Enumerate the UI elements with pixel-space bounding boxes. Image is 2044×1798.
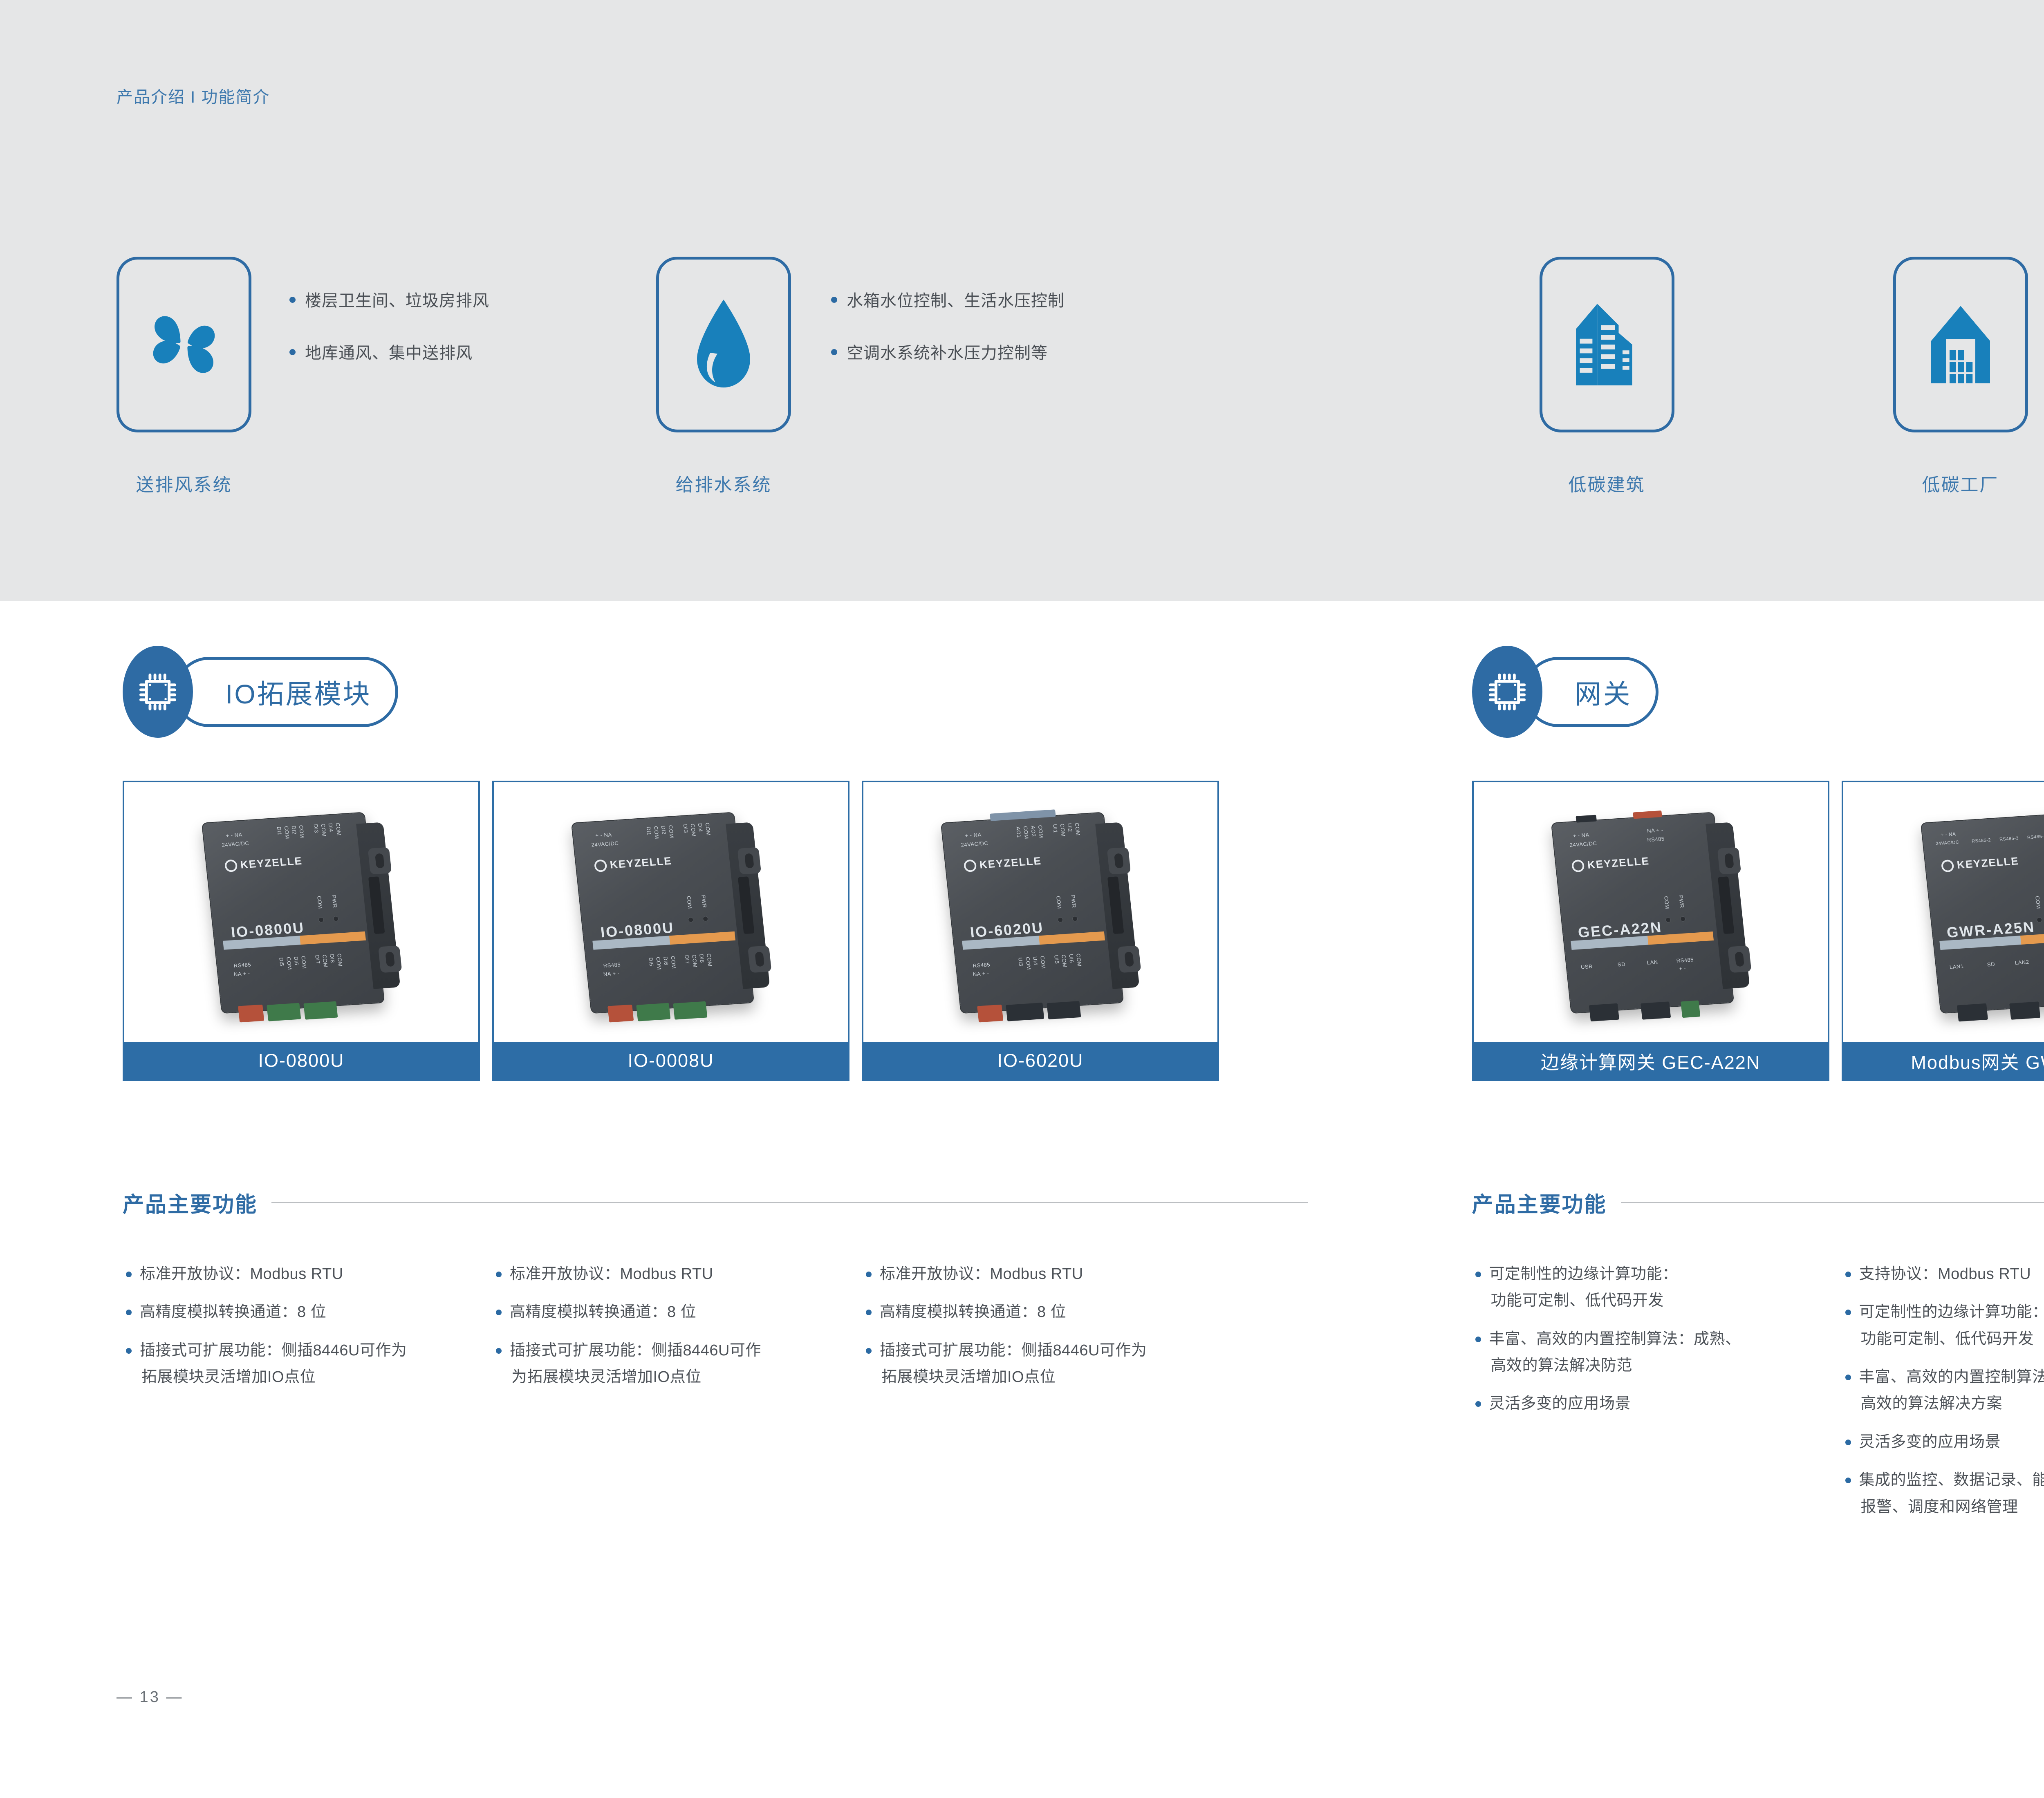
terminal-label: LAN bbox=[1647, 959, 1658, 966]
led-label: PWR bbox=[700, 895, 708, 908]
terminal-label: DI6 bbox=[293, 956, 300, 965]
terminal-label: UI1 bbox=[1052, 824, 1059, 833]
keyzelle-logo-icon bbox=[1941, 859, 1954, 872]
terminal-label: DI5 bbox=[278, 957, 285, 966]
terminal-label: COM bbox=[336, 953, 343, 967]
list-item: 插接式可扩展功能：侧插8446U可作为 拓展模块灵活增加IO点位 bbox=[123, 1337, 493, 1391]
device-illustration: + - NA 24VAC/DC AO1 COM AO2 COM UI1 COM … bbox=[941, 811, 1140, 1014]
scenario-low-carbon-building: 低碳建筑 bbox=[1540, 257, 1674, 496]
feature-column: 标准开放协议：Modbus RTU 高精度模拟转换通道：8 位 插接式可扩展功能… bbox=[863, 1261, 1233, 1402]
keyzelle-logo-icon bbox=[224, 859, 238, 872]
device-illustration: + - NA 24VAC/DC RS485-2 RS485-3 RS485-4 … bbox=[1920, 811, 2044, 1014]
office-building-icon bbox=[1568, 293, 1646, 396]
section-title: 网关 bbox=[1575, 672, 1632, 712]
scenario-group-right: 低碳建筑 低碳工厂 bbox=[1317, 257, 2044, 551]
list-item: 支持协议：Modbus RTU bbox=[1842, 1261, 2044, 1287]
list-item: 空调水系统补水压力控制等 bbox=[828, 342, 1065, 365]
device-illustration: + - NA 24VAC/DC DI1 COM DI2 COM DI3 COM … bbox=[571, 811, 771, 1014]
scenario-factory-caption: 低碳工厂 bbox=[1893, 470, 2028, 496]
terminal-label: DI7 bbox=[684, 955, 690, 964]
feature-column: 标准开放协议：Modbus RTU 高精度模拟转换通道：8 位 插接式可扩展功能… bbox=[493, 1261, 863, 1402]
terminal-label: RS485-2 bbox=[1971, 837, 1991, 844]
terminal-label: RS485 bbox=[1676, 956, 1694, 964]
list-item: 可定制性的边缘计算功能： 功能可定制、低代码开发 bbox=[1472, 1261, 1842, 1314]
terminal-label: 24VAC/DC bbox=[1569, 840, 1597, 848]
device-brand: KEYZELLE bbox=[1941, 855, 2019, 872]
terminal-label: COM bbox=[1074, 822, 1081, 836]
terminal-label: RS485-4 bbox=[2027, 834, 2044, 840]
device-illustration: + - NA 24VAC/DC NA + - RS485 KEYZELLE GE… bbox=[1551, 811, 1750, 1014]
terminal-label: RS485 bbox=[1647, 835, 1665, 843]
terminal-label: + - NA bbox=[595, 831, 612, 839]
product-card[interactable]: + - NA 24VAC/DC DI1 COM DI2 COM DI3 COM … bbox=[492, 781, 849, 1081]
terminal-label: AO1 bbox=[1015, 826, 1022, 837]
terminal-label: COM bbox=[321, 954, 329, 967]
terminal-label: SD bbox=[1987, 961, 1995, 967]
terminal-label: COM bbox=[1059, 823, 1067, 837]
terminal-label: COM bbox=[1039, 956, 1047, 969]
terminal-label: COM bbox=[283, 826, 291, 839]
product-photo: + - NA 24VAC/DC AO1 COM AO2 COM UI1 COM … bbox=[863, 782, 1217, 1042]
scenario-fan-bullets: 楼层卫生间、垃圾房排风 地库通风、集中送排风 bbox=[286, 289, 489, 394]
feature-columns-right: 可定制性的边缘计算功能： 功能可定制、低代码开发 丰富、高效的内置控制算法：成熟… bbox=[1472, 1261, 2044, 1532]
keyzelle-logo-icon bbox=[964, 859, 977, 872]
terminal-label: DI4 bbox=[327, 823, 334, 832]
product-card[interactable]: + - NA 24VAC/DC AO1 COM AO2 COM UI1 COM … bbox=[862, 781, 1219, 1081]
terminal-label: + - NA bbox=[965, 831, 982, 839]
list-item: 高精度模拟转换通道：8 位 bbox=[123, 1299, 493, 1326]
chip-icon bbox=[123, 646, 193, 738]
terminal-label: DI3 bbox=[682, 824, 689, 833]
led-label: COM bbox=[1055, 896, 1062, 909]
terminal-label: UI3 bbox=[1017, 957, 1024, 966]
terminal-label: COM bbox=[300, 956, 307, 969]
terminal-label: NA + - bbox=[603, 970, 620, 977]
water-drop-icon bbox=[685, 293, 762, 396]
terminal-label: 24VAC/DC bbox=[222, 840, 249, 848]
list-item: 标准开放协议：Modbus RTU bbox=[863, 1261, 1233, 1287]
running-head-left: 产品介绍 I 功能简介 bbox=[117, 84, 270, 107]
list-item: 水箱水位控制、生活水压控制 bbox=[828, 289, 1065, 312]
terminal-label: + - NA bbox=[1940, 831, 1956, 837]
scenario-fan-frame bbox=[117, 257, 251, 432]
features-heading-left: 产品主要功能 bbox=[123, 1187, 1308, 1218]
scenario-group-left: 送排风系统 楼层卫生间、垃圾房排风 地库通风、集中送排风 给排水系统 水箱水位控… bbox=[0, 257, 1317, 551]
terminal-label: DI7 bbox=[314, 955, 321, 964]
brochure-spread: 产品介绍 I 功能简介 送排风系统 bbox=[0, 0, 2044, 1798]
section-badge-io-modules-pill: IO拓展模块 bbox=[174, 657, 398, 727]
product-card-label: Modbus网关 GWR-A25N bbox=[1843, 1042, 2044, 1079]
terminal-label: COM bbox=[668, 825, 675, 838]
list-item: 楼层卫生间、垃圾房排风 bbox=[286, 289, 489, 312]
terminal-label: COM bbox=[653, 826, 660, 839]
scenario-low-carbon-factory: 低碳工厂 bbox=[1893, 257, 2028, 496]
terminal-label: COM bbox=[285, 956, 293, 970]
scenario-fan-caption: 送排风系统 bbox=[117, 470, 251, 496]
device-brand: KEYZELLE bbox=[1571, 855, 1650, 872]
terminal-label: RS485 bbox=[603, 961, 621, 969]
product-photo: + - NA 24VAC/DC NA + - RS485 KEYZELLE GE… bbox=[1474, 782, 1828, 1042]
scenario-water: 给排水系统 bbox=[656, 257, 791, 496]
led-label: COM bbox=[686, 896, 693, 909]
scenario-building-caption: 低碳建筑 bbox=[1540, 470, 1674, 496]
feature-columns-left: 标准开放协议：Modbus RTU 高精度模拟转换通道：8 位 插接式可扩展功能… bbox=[123, 1261, 1316, 1402]
right-page: 产品介绍 I 功能简介 bbox=[1317, 0, 2044, 1798]
list-item: 插接式可扩展功能：侧插8446U可作 为拓展模块灵活增加IO点位 bbox=[493, 1337, 863, 1391]
terminal-label: SD bbox=[1617, 961, 1626, 967]
terminal-label: + - NA bbox=[1572, 831, 1589, 839]
product-photo: + - NA 24VAC/DC DI1 COM DI2 COM DI3 COM … bbox=[494, 782, 848, 1042]
feature-column: 支持协议：Modbus RTU 可定制性的边缘计算功能： 功能可定制、低代码开发… bbox=[1842, 1261, 2044, 1532]
keyzelle-logo-icon bbox=[1571, 859, 1585, 872]
terminal-label: COM bbox=[1024, 956, 1032, 970]
terminal-label: COM bbox=[298, 825, 305, 838]
chip-icon bbox=[1472, 646, 1542, 738]
terminal-label: DI2 bbox=[291, 825, 298, 835]
product-card-row-gateway: + - NA 24VAC/DC NA + - RS485 KEYZELLE GE… bbox=[1472, 781, 2044, 1081]
list-item: 灵活多变的应用场景 bbox=[1472, 1390, 1842, 1417]
terminal-label: COM bbox=[704, 822, 712, 836]
terminal-label: COM bbox=[335, 822, 342, 836]
terminal-label: 24VAC/DC bbox=[1935, 840, 1959, 846]
list-item: 插接式可扩展功能：侧插8446U可作为 拓展模块灵活增加IO点位 bbox=[863, 1337, 1233, 1391]
product-photo: + - NA 24VAC/DC DI1 COM DI2 COM DI3 COM … bbox=[124, 782, 478, 1042]
list-item: 高精度模拟转换通道：8 位 bbox=[863, 1299, 1233, 1326]
list-item: 丰富、高效的内置控制算法：成熟、 高效的算法解决防范 bbox=[1472, 1326, 1842, 1379]
divider bbox=[1621, 1202, 2044, 1203]
terminal-label: COM bbox=[1022, 826, 1030, 839]
terminal-label: DI8 bbox=[329, 954, 336, 963]
terminal-label: + - bbox=[1679, 965, 1686, 972]
terminal-label: NA + - bbox=[973, 970, 989, 977]
scenario-water-caption: 给排水系统 bbox=[656, 470, 791, 496]
terminal-label: DI8 bbox=[698, 954, 705, 963]
led-label: COM bbox=[1663, 896, 1670, 909]
feature-column: 可定制性的边缘计算功能： 功能可定制、低代码开发 丰富、高效的内置控制算法：成熟… bbox=[1472, 1261, 1842, 1532]
list-item: 集成的监控、数据记录、能耗计量、 报警、调度和网络管理 bbox=[1842, 1467, 2044, 1520]
led-label: PWR bbox=[1070, 895, 1077, 908]
product-card-label: IO-0008U bbox=[494, 1042, 848, 1079]
section-badge-gateway-pill: 网关 bbox=[1524, 657, 1659, 727]
device-brand: KEYZELLE bbox=[964, 854, 1042, 872]
terminal-label: NA + - bbox=[233, 970, 250, 977]
scenario-factory-frame bbox=[1893, 257, 2028, 432]
product-card-label: 边缘计算网关 GEC-A22N bbox=[1474, 1042, 1828, 1079]
led-label: PWR bbox=[331, 895, 338, 908]
factory-icon bbox=[1924, 293, 1997, 396]
led-label: PWR bbox=[1678, 895, 1685, 908]
terminal-label: COM bbox=[1037, 825, 1044, 838]
terminal-label: COM bbox=[706, 953, 713, 967]
terminal-label: UI6 bbox=[1068, 954, 1075, 963]
terminal-label: COM bbox=[690, 823, 697, 837]
terminal-label: COM bbox=[1075, 953, 1083, 967]
terminal-label: UI4 bbox=[1032, 956, 1039, 965]
product-card[interactable]: + - NA 24VAC/DC DI1 COM DI2 COM DI3 COM … bbox=[123, 781, 480, 1081]
list-item: 地库通风、集中送排风 bbox=[286, 342, 489, 365]
terminal-label: LAN1 bbox=[1949, 963, 1964, 970]
terminal-label: RS485 bbox=[233, 961, 251, 969]
led-label: COM bbox=[2034, 896, 2042, 909]
scenario-fan: 送排风系统 bbox=[117, 257, 251, 496]
terminal-label: 24VAC/DC bbox=[961, 840, 988, 848]
left-page: 产品介绍 I 功能简介 送排风系统 bbox=[0, 0, 1317, 1798]
section-badge-gateway: 网关 bbox=[1472, 646, 1659, 738]
terminal-label: + - NA bbox=[226, 831, 243, 839]
terminal-label: COM bbox=[670, 956, 677, 969]
terminal-label: RS485-3 bbox=[1999, 836, 2019, 842]
terminal-label: USB bbox=[1580, 963, 1593, 970]
device-brand: KEYZELLE bbox=[224, 854, 303, 872]
list-item: 标准开放协议：Modbus RTU bbox=[493, 1261, 863, 1287]
product-photo: + - NA 24VAC/DC RS485-2 RS485-3 RS485-4 … bbox=[1843, 782, 2044, 1042]
led-label: COM bbox=[316, 896, 323, 909]
feature-column: 标准开放协议：Modbus RTU 高精度模拟转换通道：8 位 插接式可扩展功能… bbox=[123, 1261, 493, 1402]
terminal-label: DI1 bbox=[645, 826, 652, 835]
scenario-building-frame bbox=[1540, 257, 1674, 432]
product-card-row-io: + - NA 24VAC/DC DI1 COM DI2 COM DI3 COM … bbox=[123, 781, 1219, 1081]
terminal-label: LAN2 bbox=[2015, 958, 2029, 965]
terminal-label: DI4 bbox=[697, 823, 704, 832]
device-brand: KEYZELLE bbox=[594, 854, 673, 872]
terminal-label: DI5 bbox=[648, 957, 654, 966]
terminal-label: COM bbox=[1060, 954, 1068, 967]
terminal-label: AO2 bbox=[1030, 825, 1037, 837]
device-illustration: + - NA 24VAC/DC DI1 COM DI2 COM DI3 COM … bbox=[202, 811, 401, 1014]
list-item: 标准开放协议：Modbus RTU bbox=[123, 1261, 493, 1287]
product-card-label: IO-0800U bbox=[124, 1042, 478, 1079]
list-item: 丰富、高效的内置控制算法：成熟、 高效的算法解决方案 bbox=[1842, 1364, 2044, 1417]
terminal-label: COM bbox=[320, 823, 327, 837]
list-item: 高精度模拟转换通道：8 位 bbox=[493, 1299, 863, 1326]
terminal-label: DI3 bbox=[313, 824, 320, 833]
section-badge-io-modules: IO拓展模块 bbox=[123, 646, 398, 738]
terminal-label: COM bbox=[655, 956, 662, 970]
list-item: 可定制性的边缘计算功能： 功能可定制、低代码开发 bbox=[1842, 1299, 2044, 1352]
terminal-label: COM bbox=[691, 954, 698, 967]
product-card[interactable]: + - NA 24VAC/DC RS485-2 RS485-3 RS485-4 … bbox=[1842, 781, 2044, 1081]
features-title: 产品主要功能 bbox=[123, 1187, 258, 1218]
section-title: IO拓展模块 bbox=[225, 672, 372, 712]
terminal-label: NA + - bbox=[1647, 826, 1663, 834]
features-heading-right: 产品主要功能 bbox=[1472, 1187, 2044, 1218]
product-card[interactable]: + - NA 24VAC/DC NA + - RS485 KEYZELLE GE… bbox=[1472, 781, 1829, 1081]
list-item: 灵活多变的应用场景 bbox=[1842, 1429, 2044, 1455]
page-number-left: — 13 — bbox=[117, 1688, 183, 1706]
terminal-label: 24VAC/DC bbox=[591, 840, 619, 848]
product-card-label: IO-6020U bbox=[863, 1042, 1217, 1079]
terminal-label: UI5 bbox=[1053, 955, 1060, 964]
terminal-label: DI1 bbox=[276, 826, 283, 835]
terminal-label: DI6 bbox=[662, 956, 669, 965]
keyzelle-logo-icon bbox=[594, 859, 607, 872]
terminal-label: DI2 bbox=[660, 825, 667, 835]
scenario-water-frame bbox=[656, 257, 791, 432]
divider bbox=[271, 1202, 1308, 1203]
terminal-label: UI2 bbox=[1067, 823, 1074, 832]
terminal-label: RS485 bbox=[973, 961, 991, 969]
fan-icon bbox=[141, 302, 227, 387]
features-title: 产品主要功能 bbox=[1472, 1187, 1607, 1218]
scenario-water-bullets: 水箱水位控制、生活水压控制 空调水系统补水压力控制等 bbox=[828, 289, 1065, 394]
